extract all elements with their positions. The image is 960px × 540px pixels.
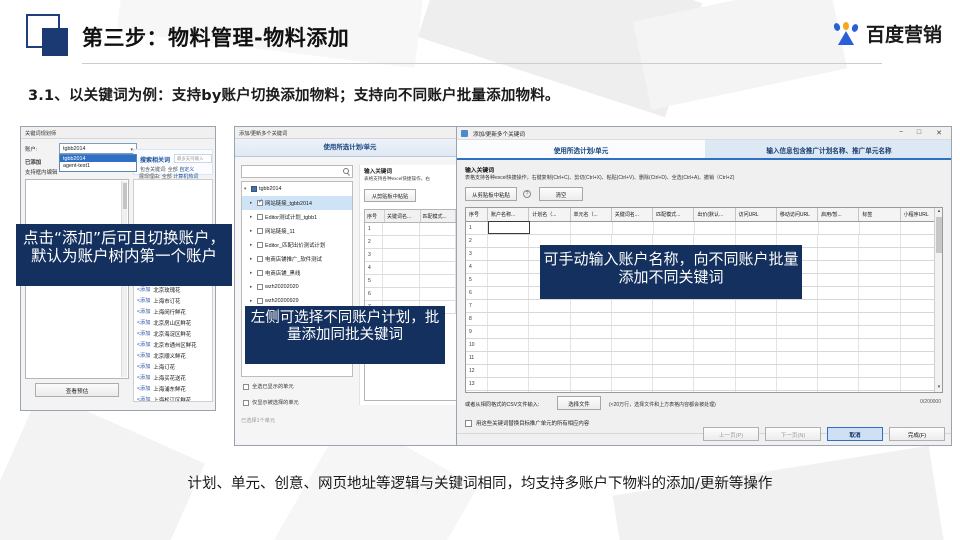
col-bid-price: 出价(默认... [694, 208, 735, 221]
finish-button[interactable]: 完成(F) [889, 427, 945, 441]
callout-manual-account-input: 可手动输入账户名称，向不同账户批量添加不同关键词 [540, 245, 802, 299]
selected-units-status: 已选择1个单元 [241, 417, 275, 424]
col-enable-pause: 启用/暂... [818, 208, 859, 221]
left-inline-edit-label: 支持框内编辑 [25, 168, 57, 176]
table-row[interactable]: 1 [365, 223, 456, 236]
scrollbar-thumb[interactable] [936, 217, 942, 253]
baidu-paw-icon [832, 22, 860, 46]
list-item[interactable]: <添加北京房山区鲜花 [134, 317, 212, 328]
checkbox-label: 用这些关键词替换目标推广单元的所有相应内容 [476, 419, 589, 427]
keyword-result-list[interactable]: <添加北京玫瑰花 <添加上海市订花 <添加上海闵行鲜花 <添加北京房山区鲜花 <… [133, 179, 213, 402]
add-keyword-link[interactable]: <添加 [137, 330, 150, 337]
add-keyword-link[interactable]: <添加 [137, 319, 150, 326]
keyword-entry-grid[interactable]: 序号 账户名称... 计划名（... 单元名（... 关键词名... 匹配模式.… [465, 207, 943, 393]
brand-logo: 百度营销 [832, 20, 942, 47]
chevron-right-icon[interactable]: ▸ [250, 228, 255, 234]
tree-checkbox[interactable] [257, 214, 263, 220]
mid-right-pane: 输入关键词 表格支持各种excel快捷操作，右 从剪贴板中粘贴 序号 关键词名.… [359, 165, 459, 405]
brand-name: 百度营销 [866, 20, 942, 47]
slide-subtitle: 3.1、以关键词为例：支持by账户切换添加物料；支持向不同账户批量添加物料。 [28, 84, 560, 105]
csv-import-note: (<20万行，选择文件和上方表格内容都会被处理) [609, 401, 716, 408]
tree-node[interactable]: ▸网站链接_11 [242, 224, 352, 238]
scroll-up-icon[interactable]: ▴ [935, 208, 943, 216]
table-row[interactable]: 10 [466, 339, 942, 352]
add-keyword-link[interactable]: <添加 [137, 374, 150, 381]
grid-header-row: 序号 账户名称... 计划名（... 单元名（... 关键词名... 匹配模式.… [466, 208, 942, 222]
col-keyword-name: 关键词名... [612, 208, 653, 221]
tab-use-selected-plan-unit[interactable]: 使用所选计划/单元 [457, 140, 705, 160]
page-title: 第三步：物料管理-物料添加 [82, 22, 349, 52]
left-search-toolbar: 搜索相关词 最多支持输入 包含关键词: 全部 自定义 [133, 149, 213, 175]
list-item[interactable]: <添加北京海淀区鲜花 [134, 328, 212, 339]
right-window-titlebar: 添加/更新多个关键词 − □ ✕ [457, 127, 951, 140]
tab-input-plan-unit-names[interactable]: 输入信息包含推广计划名称、推广单元名称 [705, 140, 952, 160]
table-row[interactable]: 8 [466, 313, 942, 326]
mid-input-subheading: 表格支持各种excel快捷操作，右 [364, 176, 430, 182]
slide-header: 第三步：物料管理-物料添加 百度营销 [0, 0, 960, 68]
checkbox-box[interactable] [243, 400, 249, 406]
col-visit-url: 访问URL [736, 208, 777, 221]
tree-checkbox[interactable] [257, 228, 263, 234]
tree-node[interactable]: ▸Editor_匹配出价测试计划 [242, 238, 352, 252]
tree-node[interactable]: ▸wzh20202020 [242, 280, 352, 294]
row-counter: 0/200000 [920, 399, 941, 405]
tree-checkbox[interactable] [257, 200, 263, 206]
checkbox-only-selected-units[interactable]: 仅显示被选择的单元 [243, 399, 299, 406]
mid-window-title: 添加/更新多个关键词 [235, 127, 463, 139]
col-index: 序号 [365, 210, 385, 222]
scroll-down-icon[interactable]: ▾ [935, 384, 943, 392]
mid-keyword-grid[interactable]: 序号 关键词名... 匹配模式... 1 2 3 4 5 6 7 [364, 209, 457, 401]
chevron-right-icon[interactable]: ▸ [250, 200, 255, 206]
grid-vertical-scrollbar[interactable]: ▴ ▾ [934, 208, 942, 392]
close-icon[interactable]: ✕ [933, 129, 945, 137]
csv-import-label: 或者从相同格式的CSV文件输入: [465, 401, 539, 408]
tree-checkbox[interactable] [257, 284, 263, 290]
list-item[interactable]: <添加上海浦东鲜花 [134, 383, 212, 394]
col-tag: 标签 [859, 208, 900, 221]
chevron-right-icon[interactable]: ▸ [250, 284, 255, 290]
tree-node[interactable]: ▸电商店铺推广_软件测试 [242, 252, 352, 266]
checkbox-label: 全选已显示的单元 [252, 383, 294, 390]
maximize-icon[interactable]: □ [913, 129, 925, 136]
table-row[interactable]: 9 [466, 326, 942, 339]
table-row[interactable]: 12 [466, 365, 942, 378]
right-input-heading: 输入关键词 [465, 165, 494, 174]
add-keyword-link[interactable]: <添加 [137, 363, 150, 370]
account-option-1[interactable]: agent-test1 [60, 162, 136, 169]
paste-from-clipboard-button[interactable]: 从剪贴板中粘贴 [364, 189, 416, 202]
header-square-solid-icon [42, 28, 68, 56]
add-keyword-link[interactable]: <添加 [137, 341, 150, 348]
filter-show-reason[interactable]: 展现理由: 全部 计算机热词 [139, 173, 198, 180]
col-match-mode: 匹配模式... [653, 208, 694, 221]
table-row[interactable]: 5 [365, 275, 456, 288]
chevron-right-icon[interactable]: ▸ [250, 298, 255, 304]
account-select-value: tgbb2014 [63, 146, 85, 152]
chevron-right-icon[interactable]: ▸ [250, 214, 255, 220]
callout-switch-account: 点击“添加”后可且切换账户，默认为账户树内第一个账户 [16, 224, 232, 286]
magnifier-icon [343, 168, 349, 174]
view-estimate-button[interactable]: 查看预估 [35, 383, 119, 397]
tree-checkbox[interactable] [257, 242, 263, 248]
mid-tabbar: 使用所选计划/单元 [235, 139, 464, 157]
right-window-title: 添加/更新多个关键词 [473, 130, 525, 138]
table-row[interactable]: 2 [365, 236, 456, 249]
list-item[interactable]: <添加上海买花送花 [134, 372, 212, 383]
tree-checkbox[interactable] [257, 298, 263, 304]
col-account-name: 账户名称... [488, 208, 529, 221]
col-unit-name: 单元名（... [571, 208, 612, 221]
left-added-label: 已添加 [25, 158, 41, 166]
add-keyword-link[interactable]: <添加 [137, 297, 150, 304]
chevron-right-icon[interactable]: ▸ [250, 270, 255, 276]
chevron-right-icon[interactable]: ▸ [250, 242, 255, 248]
chevron-down-icon[interactable]: ▾ [244, 186, 249, 192]
tree-node[interactable]: ▸Editor测试计划_tgbb1 [242, 210, 352, 224]
header-divider [82, 63, 882, 64]
col-keyword-name: 关键词名... [385, 210, 421, 222]
checkbox-label: 仅显示被选择的单元 [252, 399, 299, 406]
right-tabbar: 使用所选计划/单元 输入信息包含推广计划名称、推广单元名称 [457, 140, 952, 160]
table-row[interactable]: 3 [365, 249, 456, 262]
table-row[interactable]: 6 [365, 288, 456, 301]
list-item[interactable]: <添加上海市订花 [134, 295, 212, 306]
add-keyword-link[interactable]: <添加 [137, 385, 150, 392]
col-match-mode: 匹配模式... [421, 210, 457, 222]
col-plan-name: 计划名（... [529, 208, 570, 221]
slide-caption: 计划、单元、创意、网页地址等逻辑与关键词相同，均支持多账户下物料的添加/更新等操… [0, 472, 960, 493]
list-item[interactable]: <添加北京顺义鲜花 [134, 350, 212, 361]
cancel-button[interactable]: 取消 [827, 427, 883, 441]
tree-search-input[interactable] [241, 165, 353, 178]
tree-checkbox[interactable] [257, 256, 263, 262]
tab-use-selected-plan-unit[interactable]: 使用所选计划/单元 [255, 142, 445, 151]
next-page-button[interactable]: 下一页(N) [765, 427, 821, 441]
checkbox-box[interactable] [243, 384, 249, 390]
list-item[interactable]: <添加上海松江区鲜花 [134, 394, 212, 402]
left-window-title: 关键词规划师 [21, 127, 215, 139]
question-mark-icon[interactable]: ? [523, 190, 531, 198]
table-row[interactable]: 14 [466, 391, 942, 393]
col-mobile-visit-url: 移动访问URL [777, 208, 818, 221]
col-index: 序号 [466, 208, 488, 221]
tree-node-root[interactable]: ▾tgbb2014 [242, 182, 352, 196]
checkbox-box[interactable] [465, 420, 472, 427]
dialog-footer: 上一页(P) 下一页(N) 取消 完成(F) [703, 427, 945, 441]
checkbox-select-all-units[interactable]: 全选已显示的单元 [243, 383, 294, 390]
list-item[interactable]: <添加上海闵行鲜花 [134, 306, 212, 317]
tree-node[interactable]: ▸网站链接_tgbb2014 [242, 196, 352, 210]
add-keyword-link[interactable]: <添加 [137, 308, 150, 315]
minimize-icon[interactable]: − [895, 129, 907, 136]
prev-page-button[interactable]: 上一页(P) [703, 427, 759, 441]
left-account-label: 账户: [25, 145, 37, 153]
screenshot-mid-add-keywords[interactable]: 添加/更新多个关键词 使用所选计划/单元 ▾tgbb2014 ▸网站链接_tgb… [234, 126, 464, 446]
tree-checkbox[interactable] [251, 186, 257, 192]
keyword-search-input[interactable]: 最多支持输入 [174, 154, 212, 163]
add-keyword-link[interactable]: <添加 [137, 286, 150, 293]
grid-header-row: 序号 关键词名... 匹配模式... [365, 210, 456, 223]
replace-content-checkbox[interactable]: 用这些关键词替换目标推广单元的所有相应内容 [465, 419, 589, 427]
account-dropdown-list[interactable]: tgbb2014 agent-test1 [59, 154, 137, 172]
choose-file-button[interactable]: 选择文件 [557, 396, 601, 410]
table-row[interactable]: 1 [466, 222, 942, 235]
tree-checkbox[interactable] [257, 270, 263, 276]
filter-include-keyword[interactable]: 包含关键词: 全部 自定义 [140, 166, 194, 173]
add-keyword-link[interactable]: <添加 [137, 352, 150, 359]
account-select[interactable]: tgbb2014 ▾ [59, 143, 137, 154]
clear-button[interactable]: 清空 [539, 187, 583, 201]
account-option-0[interactable]: tgbb2014 [60, 155, 136, 162]
list-item[interactable]: <添加上海订花 [134, 361, 212, 372]
callout-select-plans: 左侧可选择不同账户计划，批量添加同批关键词 [245, 306, 445, 364]
keyword-list-body: <添加北京玫瑰花 <添加上海市订花 <添加上海闵行鲜花 <添加北京房山区鲜花 <… [134, 180, 212, 402]
table-row[interactable]: 7 [466, 300, 942, 313]
right-input-subheading: 表格支持各种excel快捷操作，右键复制(Ctrl+C)、剪切(Ctrl+X)、… [465, 174, 734, 181]
table-row[interactable]: 4 [365, 262, 456, 275]
add-keyword-link[interactable]: <添加 [137, 396, 150, 402]
table-row[interactable]: 11 [466, 352, 942, 365]
mid-input-heading: 输入关键词 [364, 167, 392, 175]
list-item[interactable]: <添加北京市通州区鲜花 [134, 339, 212, 350]
table-row[interactable]: 13 [466, 378, 942, 391]
paste-from-clipboard-button[interactable]: 从剪贴板中粘贴 [465, 187, 517, 201]
tree-node[interactable]: ▸电商店铺_黑线 [242, 266, 352, 280]
tab-related-keywords[interactable]: 搜索相关词 [140, 155, 170, 164]
chevron-right-icon[interactable]: ▸ [250, 256, 255, 262]
app-window-icon [461, 130, 468, 137]
